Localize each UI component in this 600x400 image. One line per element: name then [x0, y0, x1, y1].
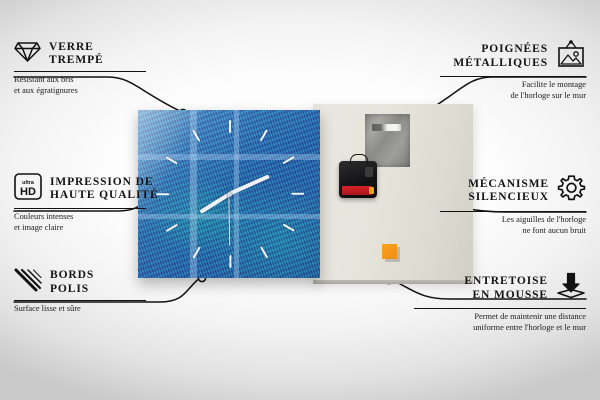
- callout-title-line1: ENTRETOISE: [464, 275, 548, 289]
- callout-title-line1: BORDS: [50, 269, 94, 283]
- hour-tick: [260, 246, 269, 258]
- second-hand: [228, 194, 230, 246]
- callout-sub-line2: uniforme entre l'horloge et le mur: [414, 323, 586, 334]
- callout-title-line2: EN MOUSSE: [464, 289, 548, 303]
- callout-verre-trempe[interactable]: VERRE TREMPÉ Résistant aux bris et aux é…: [14, 40, 146, 96]
- hour-tick: [282, 156, 294, 165]
- foam-spacer-arrow-icon: [556, 272, 586, 305]
- callout-title-line2: TREMPÉ: [49, 54, 104, 68]
- gear-icon: [557, 174, 586, 208]
- callout-mecanisme-silencieux[interactable]: MÉCANISME SILENCIEUX Les aiguilles de l'…: [440, 174, 586, 236]
- foam-spacer: [382, 244, 397, 259]
- hour-tick: [192, 129, 201, 141]
- callout-title-line2: SILENCIEUX: [468, 191, 549, 205]
- callout-sub-line1: Couleurs intenses: [14, 212, 146, 223]
- hour-tick: [291, 193, 304, 195]
- metal-hanger-plate: [365, 114, 410, 167]
- infographic-canvas: VERRE TREMPÉ Résistant aux bris et aux é…: [0, 0, 600, 400]
- callout-title-line1: VERRE: [49, 41, 104, 55]
- callout-rule: [14, 208, 146, 209]
- clock-dial: [138, 110, 320, 278]
- hands-center-cap: [227, 192, 232, 197]
- callout-sub-line2: et aux égratignures: [14, 86, 146, 97]
- callout-bords-polis[interactable]: BORDS POLIS Surface lisse et sûre: [14, 268, 146, 315]
- hour-tick: [192, 246, 201, 258]
- hour-tick: [229, 255, 231, 268]
- callout-title-line1: POIGNÉES: [453, 43, 548, 57]
- callout-sub-line1: Surface lisse et sûre: [14, 304, 146, 315]
- minute-hand: [228, 174, 270, 196]
- callout-sub-line1: Les aiguilles de l'horloge: [440, 215, 586, 226]
- hour-tick: [166, 223, 178, 232]
- callout-rule: [440, 76, 586, 77]
- callout-title-line1: MÉCANISME: [468, 178, 549, 192]
- clock-mechanism: [339, 161, 377, 198]
- svg-text:HD: HD: [20, 186, 36, 198]
- product-image: [138, 104, 473, 280]
- hour-hand: [199, 192, 230, 214]
- hour-tick: [260, 129, 269, 141]
- callout-sub-line1: Résistant aux bris: [14, 75, 146, 86]
- callout-title-line1: IMPRESSION DE: [50, 176, 159, 190]
- callout-entretoise-en-mousse[interactable]: ENTRETOISE EN MOUSSE Permet de maintenir…: [414, 272, 586, 333]
- callout-sub-line2: ne font aucun bruit: [440, 226, 586, 237]
- hour-tick: [229, 120, 231, 133]
- hour-tick: [282, 223, 294, 232]
- callout-sub-line1: Permet de maintenir une distance: [414, 312, 586, 323]
- hour-tick: [166, 156, 178, 165]
- callout-title-line2: HAUTE QUALITÉ: [50, 189, 159, 203]
- callout-rule: [440, 211, 586, 212]
- callout-sub-line2: de l'horloge sur le mur: [440, 91, 586, 102]
- callout-sub-line2: et image claire: [14, 223, 146, 234]
- callout-sub-line1: Facilite le montage: [440, 80, 586, 91]
- callout-rule: [414, 308, 586, 309]
- callout-poignees-metalliques[interactable]: POIGNÉES MÉTALLIQUES Facilite le montage…: [440, 40, 586, 101]
- hanger-keyhole-slot: [372, 124, 401, 131]
- battery: [342, 186, 372, 195]
- callout-rule: [14, 71, 146, 72]
- callout-impression-haute-qualite[interactable]: ultra HD IMPRESSION DE HAUTE QUALITÉ Cou…: [14, 173, 146, 233]
- callout-title-line2: MÉTALLIQUES: [453, 57, 548, 71]
- mechanism-hanging-loop: [350, 154, 368, 164]
- polished-edges-icon: [14, 268, 42, 297]
- diamond-icon: [14, 40, 41, 68]
- clock-front-panel: [138, 110, 320, 278]
- mechanism-chip: [365, 167, 373, 177]
- callout-title-line2: POLIS: [50, 283, 94, 297]
- ultra-hd-badge-icon: ultra HD: [14, 173, 42, 205]
- picture-frame-hanging-icon: [556, 40, 586, 73]
- callout-rule: [14, 300, 146, 301]
